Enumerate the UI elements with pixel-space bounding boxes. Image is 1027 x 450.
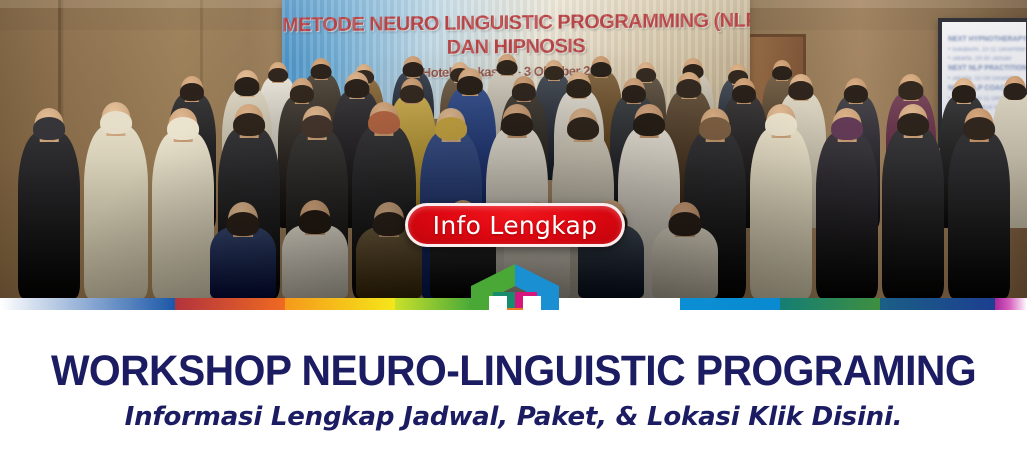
- person-hair: [227, 212, 260, 236]
- person-hair: [234, 77, 259, 95]
- person-hair: [501, 113, 533, 136]
- person-body: [210, 227, 276, 298]
- person-hair: [633, 113, 665, 136]
- person-hair: [566, 79, 591, 97]
- group-photo: METODE NEURO LINGUISTIC PROGRAMMING (NLP…: [0, 0, 1027, 298]
- person-hair: [368, 111, 400, 134]
- headline: WORKSHOP NEURO-LINGUISTIC PROGRAMING: [26, 348, 1002, 394]
- stripe-red-to-orange: [175, 298, 285, 310]
- person-hair: [33, 117, 65, 140]
- stripe-magenta-to-white: [995, 298, 1027, 310]
- person-body: [750, 128, 812, 298]
- attendee-front-row: [18, 108, 80, 298]
- person-hair: [167, 117, 199, 140]
- attendee-seated-row: [652, 202, 718, 298]
- person-hair: [180, 83, 204, 101]
- person-body: [18, 132, 80, 298]
- person-hair: [512, 83, 536, 101]
- person-hair: [100, 111, 132, 134]
- person-hair: [233, 113, 265, 136]
- attendee-front-row: [152, 108, 214, 298]
- person-hair: [311, 64, 332, 79]
- person-hair: [898, 81, 923, 99]
- subheadline[interactable]: Informasi Lengkap Jadwal, Paket, & Lokas…: [0, 402, 1027, 432]
- person-hair: [669, 212, 702, 236]
- person-hair: [344, 79, 369, 97]
- person-hair: [497, 60, 518, 75]
- person-hair: [788, 81, 813, 99]
- person-hair: [831, 117, 863, 140]
- bottom-text-area: WORKSHOP NEURO-LINGUISTIC PROGRAMING Inf…: [0, 310, 1027, 450]
- person-hair: [963, 117, 995, 140]
- person-hair: [457, 76, 483, 95]
- stripe-teal-to-green: [780, 298, 880, 310]
- person-hair: [435, 117, 467, 140]
- person-hair: [699, 117, 731, 140]
- stripe-white-to-blue: [0, 298, 175, 310]
- stripe-yellow-to-green: [395, 298, 470, 310]
- attendee-front-row: [816, 108, 878, 298]
- person-hair: [952, 85, 976, 103]
- info-lengkap-button[interactable]: Info Lengkap: [405, 203, 625, 247]
- attendee-front-row: [84, 102, 148, 298]
- person-hair: [1003, 83, 1026, 100]
- person-hair: [403, 62, 424, 77]
- person-body: [882, 128, 944, 298]
- person-hair: [400, 85, 424, 103]
- person-body: [652, 227, 718, 298]
- stripe-orange-to-yellow: [285, 298, 395, 310]
- info-lengkap-button-label: Info Lengkap: [433, 211, 598, 240]
- person-hair: [765, 113, 797, 136]
- person-body: [282, 225, 348, 298]
- nlp-workshop-banner: METODE NEURO LINGUISTIC PROGRAMMING (NLP…: [0, 0, 1027, 450]
- attendee-front-row: [750, 104, 812, 298]
- person-hair: [844, 85, 868, 103]
- person-hair: [676, 79, 701, 97]
- person-body: [152, 132, 214, 298]
- stripe-blue-dark: [880, 298, 995, 310]
- person-hair: [290, 85, 314, 103]
- person-body: [816, 132, 878, 298]
- attendee-front-row: [948, 108, 1010, 298]
- person-body: [948, 132, 1010, 298]
- attendee-seated-row: [282, 200, 348, 298]
- crowd-of-attendees: [0, 0, 1027, 298]
- stripe-cyan-blue: [680, 298, 780, 310]
- person-hair: [373, 212, 406, 236]
- attendee-front-row: [882, 104, 944, 298]
- person-hair: [732, 85, 756, 103]
- attendee-seated-row: [210, 202, 276, 298]
- person-hair: [622, 85, 646, 103]
- person-hair: [301, 115, 333, 138]
- person-body: [84, 126, 148, 298]
- person-hair: [567, 117, 599, 140]
- person-hair: [897, 113, 929, 136]
- person-hair: [299, 210, 332, 234]
